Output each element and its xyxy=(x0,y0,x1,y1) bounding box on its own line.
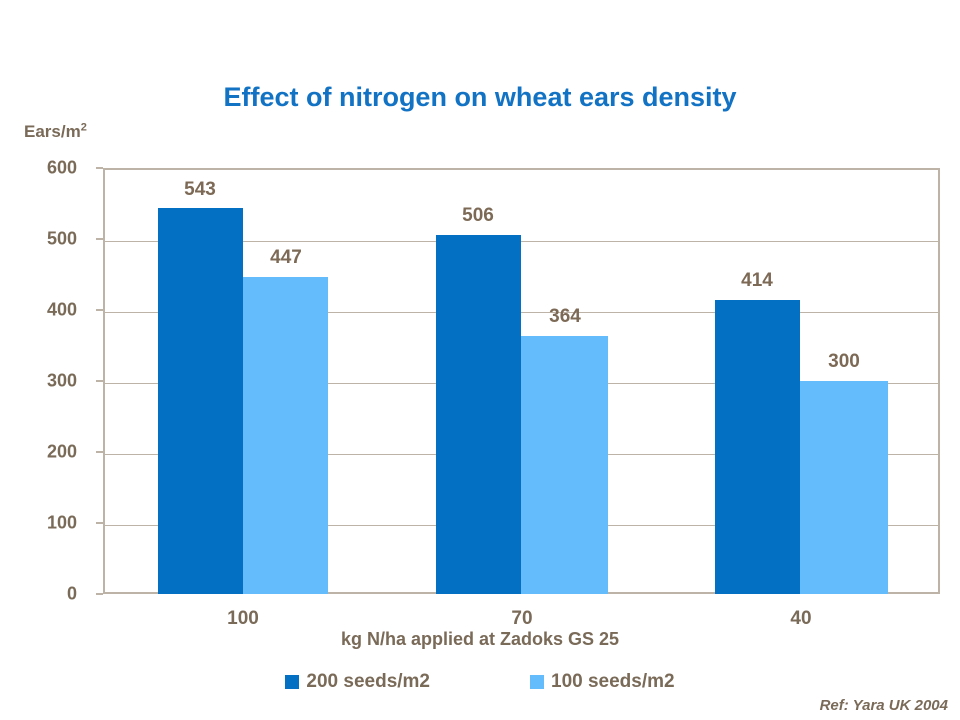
y-axis-title: Ears/m2 xyxy=(24,122,87,142)
chart-canvas: Effect of nitrogen on wheat ears density… xyxy=(0,0,960,720)
x-tick-label-70: 70 xyxy=(511,608,532,630)
legend-label-200-seeds: 200 seeds/m2 xyxy=(306,671,430,693)
plot-area xyxy=(103,168,940,594)
y-tick-label-400: 400 xyxy=(7,300,77,321)
y-tick-label-500: 500 xyxy=(7,229,77,250)
legend-label-100-seeds: 100 seeds/m2 xyxy=(551,671,675,693)
gridline-300 xyxy=(105,383,938,384)
legend-swatch-icon-200-seeds xyxy=(285,675,299,689)
legend-item-200-seeds[interactable]: 200 seeds/m2 xyxy=(285,671,430,693)
y-tick-mark-600 xyxy=(96,167,103,169)
y-axis-title-base: Ears/m xyxy=(24,122,81,141)
y-tick-mark-0 xyxy=(96,593,103,595)
y-tick-mark-500 xyxy=(96,238,103,240)
legend-swatch-icon-100-seeds xyxy=(530,675,544,689)
y-tick-label-200: 200 xyxy=(7,442,77,463)
y-tick-label-0: 0 xyxy=(7,584,77,605)
y-tick-mark-200 xyxy=(96,451,103,453)
gridline-100 xyxy=(105,525,938,526)
x-axis-title: kg N/ha applied at Zadoks GS 25 xyxy=(0,629,960,650)
reference-note: Ref: Yara UK 2004 xyxy=(820,697,948,714)
legend-item-100-seeds[interactable]: 100 seeds/m2 xyxy=(530,671,675,693)
y-axis-ticks: 600 500 400 300 200 100 0 xyxy=(0,168,103,594)
x-tick-label-40: 40 xyxy=(790,608,811,630)
gridline-400 xyxy=(105,312,938,313)
gridline-200 xyxy=(105,454,938,455)
y-tick-mark-400 xyxy=(96,309,103,311)
chart-legend: 200 seeds/m2 100 seeds/m2 xyxy=(0,671,960,693)
y-tick-mark-300 xyxy=(96,380,103,382)
y-tick-label-300: 300 xyxy=(7,371,77,392)
gridline-500 xyxy=(105,241,938,242)
chart-title: Effect of nitrogen on wheat ears density xyxy=(0,82,960,113)
y-tick-label-600: 600 xyxy=(7,158,77,179)
x-tick-label-100: 100 xyxy=(227,608,259,630)
y-tick-mark-100 xyxy=(96,522,103,524)
y-axis-title-superscript: 2 xyxy=(81,121,87,133)
y-tick-label-100: 100 xyxy=(7,513,77,534)
